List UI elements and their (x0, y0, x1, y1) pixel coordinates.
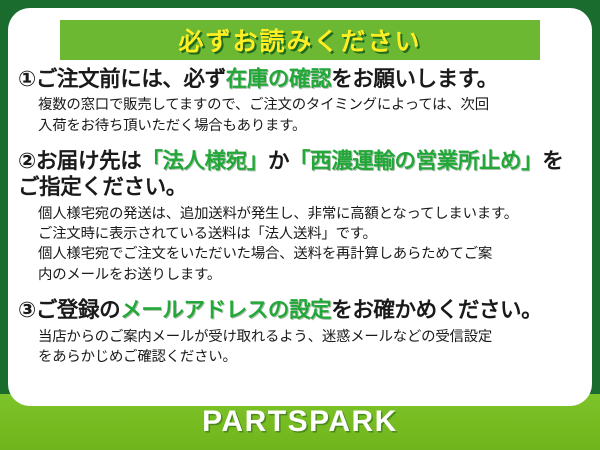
item-marker-1: ① (18, 67, 36, 91)
brand-logo: PARTSPARK (0, 394, 600, 450)
header-bar: 必ずお読みください (60, 20, 540, 60)
detail-line: ご注文時に表示されている送料は「法人送料」です。 (38, 224, 582, 244)
item-1-highlight: 在庫の確認 (226, 67, 332, 91)
item-1-text-b: をお願いします。 (331, 67, 498, 91)
notice-item-1: ①ご注文前には、必ず在庫の確認をお願いします。 複数の窓口で販売してますので、ご… (18, 66, 582, 136)
item-2-highlight-2: 「西濃運輸の営業所止め」 (289, 149, 542, 173)
notice-item-1-detail: 複数の窓口で販売してますので、ご注文のタイミングによっては、次回 入荷をお待ち頂… (38, 95, 582, 136)
detail-line: をあらかじめご確認ください。 (38, 347, 582, 367)
notice-item-3: ③ご登録のメールアドレスの設定をお確かめください。 当店からのご案内メールが受け… (18, 297, 582, 367)
notice-item-3-detail: 当店からのご案内メールが受け取れるよう、迷惑メールなどの受信設定 をあらかじめご… (38, 327, 582, 368)
page-title: 必ずお読みください (178, 22, 421, 58)
detail-line: 当店からのご案内メールが受け取れるよう、迷惑メールなどの受信設定 (38, 327, 582, 347)
item-2-highlight-1: 「法人様宛」 (141, 149, 268, 173)
item-3-text-b: をお確かめください。 (331, 298, 542, 322)
notice-item-1-heading: ①ご注文前には、必ず在庫の確認をお願いします。 (18, 66, 582, 92)
detail-line: 個人様宅宛でご注文をいただいた場合、送料を再計算しあらためてご案 (38, 244, 582, 264)
item-3-highlight: メールアドレスの設定 (120, 298, 331, 322)
notice-item-3-heading: ③ご登録のメールアドレスの設定をお確かめください。 (18, 297, 582, 323)
item-marker-2: ② (18, 149, 36, 173)
item-3-text-a: ご登録の (36, 298, 120, 322)
detail-line: 個人様宅宛の発送は、追加送料が発生し、非常に高額となってしまいます。 (38, 204, 582, 224)
detail-line: 内のメールをお送りします。 (38, 265, 582, 285)
notice-item-2-heading: ②お届け先は「法人様宛」か「西濃運輸の営業所止め」をご指定ください。 (18, 148, 582, 200)
item-2-text-a: お届け先は (36, 149, 142, 173)
notice-item-2: ②お届け先は「法人様宛」か「西濃運輸の営業所止め」をご指定ください。 個人様宅宛… (18, 148, 582, 285)
item-2-text-b: か (268, 149, 289, 173)
notice-card: 必ずお読みください ①ご注文前には、必ず在庫の確認をお願いします。 複数の窓口で… (0, 0, 600, 450)
notice-item-2-detail: 個人様宅宛の発送は、追加送料が発生し、非常に高額となってしまいます。 ご注文時に… (38, 204, 582, 286)
notice-panel: 必ずお読みください ①ご注文前には、必ず在庫の確認をお願いします。 複数の窓口で… (8, 8, 592, 406)
detail-line: 複数の窓口で販売してますので、ご注文のタイミングによっては、次回 (38, 95, 582, 115)
notice-body: ①ご注文前には、必ず在庫の確認をお願いします。 複数の窓口で販売してますので、ご… (8, 64, 592, 370)
item-1-text-a: ご注文前には、必ず (36, 67, 226, 91)
detail-line: 入荷をお待ち頂いただく場合もあります。 (38, 116, 582, 136)
item-marker-3: ③ (18, 298, 36, 322)
